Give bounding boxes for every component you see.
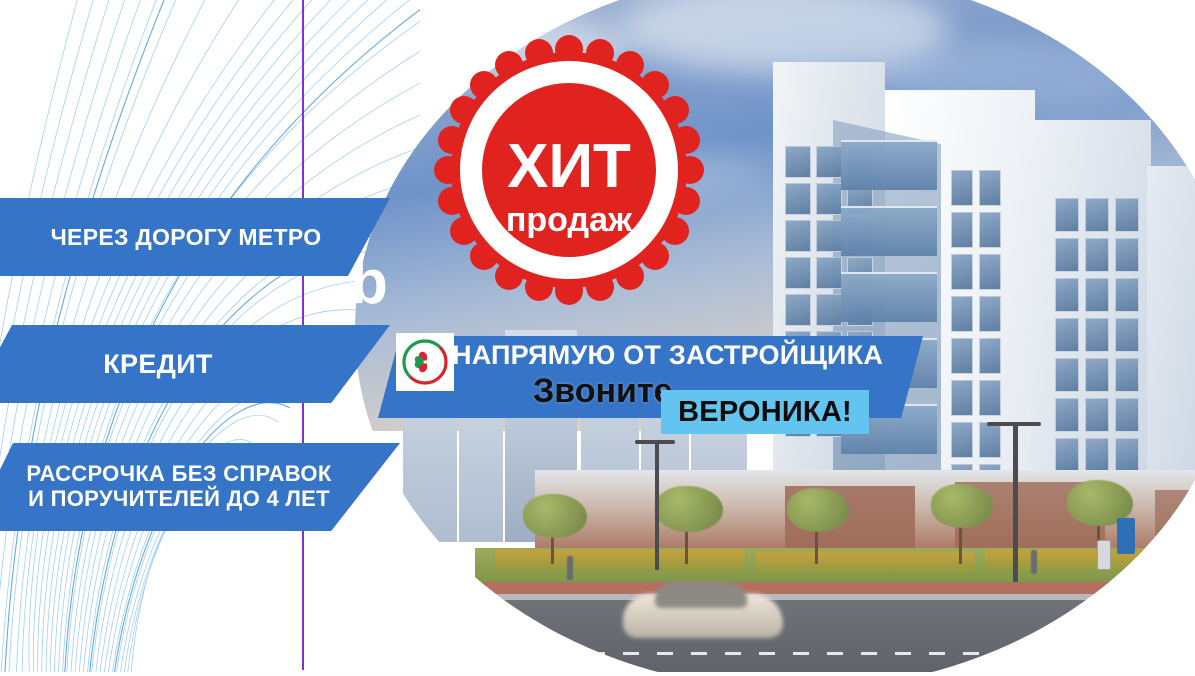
ribbon-installment-line-2: И ПОРУЧИТЕЛЕЙ ДО 4 ЛЕТ xyxy=(28,486,330,511)
street-lamp-post xyxy=(1013,422,1018,604)
promo-poster: b xyxy=(0,0,1195,676)
ribbon-installment-line-1: РАССРОЧКА БЕЗ СПРАВОК xyxy=(26,461,331,486)
ribbon-credit-label: КРЕДИТ xyxy=(103,349,212,380)
clover-hearts-logo xyxy=(396,333,454,391)
seal-line-1: ХИТ xyxy=(507,132,631,201)
ribbon-installment[interactable]: РАССРОЧКА БЕЗ СПРАВОК И ПОРУЧИТЕЛЕЙ ДО 4… xyxy=(0,443,400,531)
contact-name-box[interactable]: ВЕРОНИКА! xyxy=(661,390,869,434)
ribbon-metro-label: ЧЕРЕЗ ДОРОГУ МЕТРО xyxy=(51,224,322,251)
ribbon-metro[interactable]: ЧЕРЕЗ ДОРОГУ МЕТРО xyxy=(0,198,390,276)
bottom-divider xyxy=(0,672,1195,676)
contact-name-label: ВЕРОНИКА! xyxy=(678,396,852,429)
seal-line-2: продаж xyxy=(506,201,633,239)
call-text: Звоните xyxy=(533,372,673,411)
info-sign xyxy=(1117,518,1135,554)
traffic-signal xyxy=(1097,540,1111,570)
developer-banner-label: НАПРЯМУЮ ОТ ЗАСТРОЙЩИКА xyxy=(452,340,883,371)
ribbon-installment-label: РАССРОЧКА БЕЗ СПРАВОК И ПОРУЧИТЕЛЕЙ ДО 4… xyxy=(26,462,331,511)
hit-sales-seal: ХИТ продаж xyxy=(434,35,704,305)
ribbon-credit[interactable]: КРЕДИТ xyxy=(0,325,390,403)
